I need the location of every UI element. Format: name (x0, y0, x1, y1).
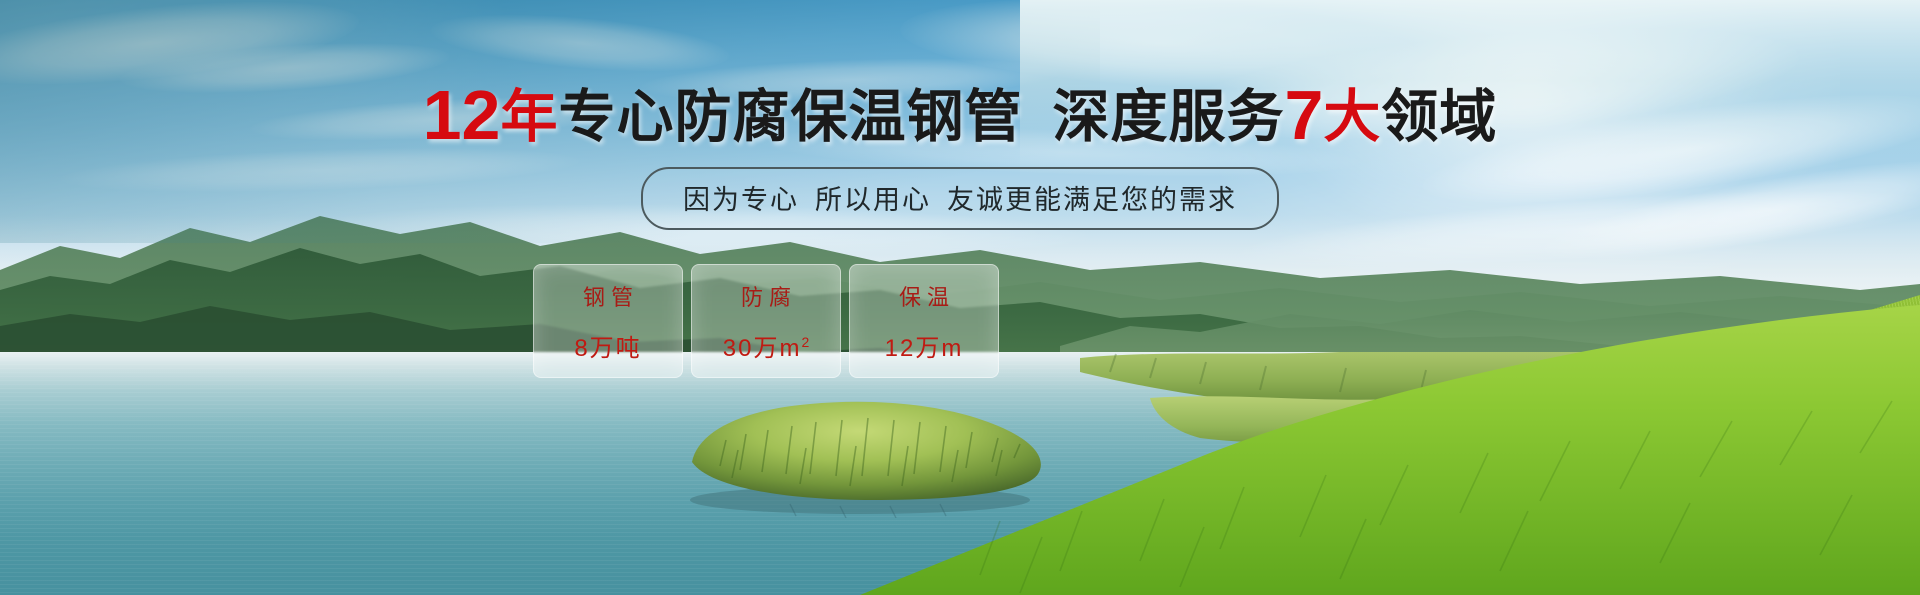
stat-value: 8万吨 (574, 328, 641, 363)
headline-years-number: 12 (423, 76, 501, 154)
stat-card-insulation: 保温 12万m (849, 264, 999, 378)
headline-part3: 领域 (1381, 85, 1497, 149)
stat-value: 30万m2 (723, 328, 809, 363)
headline-years-unit: 年 (500, 85, 558, 149)
subtitle-pill: 因为专心所以用心友诚更能满足您的需求 (641, 167, 1279, 230)
hero-banner: 12年专心防腐保温钢管深度服务7大领域 因为专心所以用心友诚更能满足您的需求 钢… (0, 0, 1920, 595)
stat-label: 钢管 (577, 280, 639, 312)
subtitle-segment-1: 因为专心 (683, 185, 799, 215)
stat-value-text: 12万m (885, 335, 964, 362)
stat-value-text: 8万吨 (574, 335, 641, 362)
headline-highlight-unit: 大 (1323, 85, 1381, 149)
headline-highlight-number: 7 (1284, 76, 1323, 154)
headline-part2: 深度服务 (1052, 85, 1284, 149)
stat-value: 12万m (885, 328, 964, 363)
stat-card-anticorrosion: 防腐 30万m2 (691, 264, 841, 378)
subtitle-segment-3: 友诚更能满足您的需求 (947, 185, 1237, 215)
stats-card-group: 钢管 8万吨 防腐 30万m2 保温 12万m (533, 264, 1033, 376)
stat-value-text: 30万m (723, 335, 802, 362)
subtitle-segment-2: 所以用心 (815, 185, 931, 215)
stat-value-superscript: 2 (801, 334, 809, 350)
subtitle-container: 因为专心所以用心友诚更能满足您的需求 (0, 167, 1920, 230)
stat-card-steel-pipe: 钢管 8万吨 (533, 264, 683, 378)
stat-label: 防腐 (735, 280, 797, 312)
headline-part1: 专心防腐保温钢管 (558, 85, 1022, 149)
stat-label: 保温 (893, 280, 955, 312)
headline: 12年专心防腐保温钢管深度服务7大领域 (0, 84, 1920, 148)
